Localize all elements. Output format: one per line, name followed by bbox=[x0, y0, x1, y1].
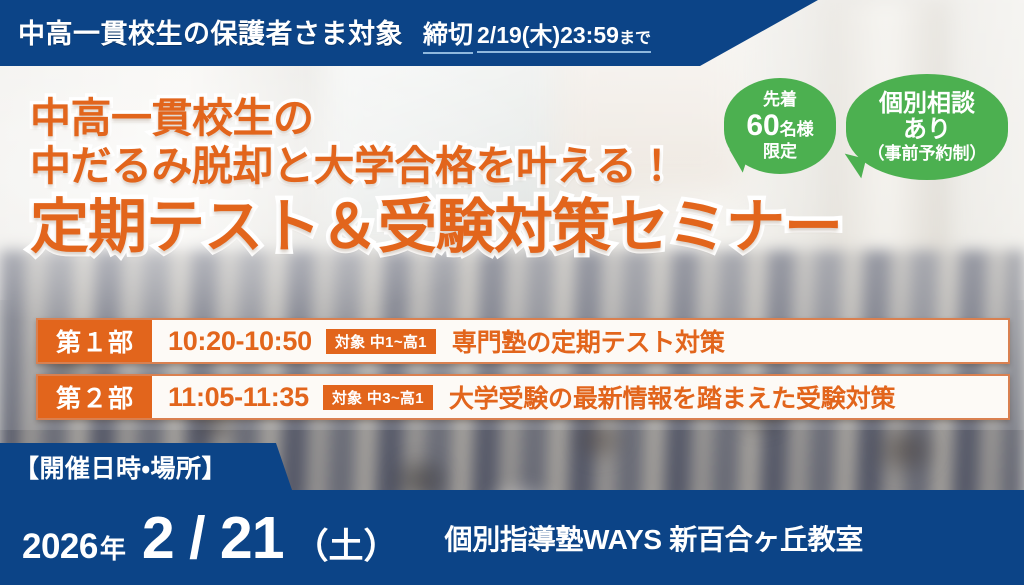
session-topic: 専門塾の定期テスト対策 bbox=[436, 320, 725, 362]
session-part-label: 第２部 bbox=[38, 376, 152, 418]
event-details-tab: 【開催日時・場所】 bbox=[0, 443, 292, 490]
headline-line-1: 中高一貫校生の bbox=[30, 96, 990, 142]
session-list: 第１部 10:20-10:50 対象 中1~高1 専門塾の定期テスト対策 第２部… bbox=[36, 318, 1010, 430]
session-time: 11:05-11:35 bbox=[152, 376, 323, 418]
seminar-title: 定期テスト＆受験対策セミナー bbox=[30, 195, 990, 260]
headline-block: 中高一貫校生の 中だるみ脱却と大学合格を叶える！ 定期テスト＆受験対策セミナー bbox=[30, 96, 990, 260]
session-part-label: 第１部 bbox=[38, 320, 152, 362]
headline-line-2: 中だるみ脱却と大学合格を叶える！ bbox=[30, 144, 990, 190]
event-year-unit: 年 bbox=[100, 529, 126, 566]
event-year: 2026 bbox=[22, 527, 98, 567]
deadline-label: 締切 bbox=[423, 15, 473, 54]
event-day-of-week: （土） bbox=[294, 518, 399, 569]
session-grade-badge: 対象 中3~高1 bbox=[323, 385, 433, 410]
session-row: 第２部 11:05-11:35 対象 中3~高1 大学受験の最新情報を踏まえた受… bbox=[36, 374, 1010, 420]
session-topic: 大学受験の最新情報を踏まえた受験対策 bbox=[433, 376, 895, 418]
event-month-day: 2 / 21 bbox=[142, 504, 284, 572]
top-ribbon-content: 中高一貫校生の保護者さま対象 締切 2/19(木)23:59 まで bbox=[0, 12, 651, 54]
top-ribbon: 中高一貫校生の保護者さま対象 締切 2/19(木)23:59 まで bbox=[0, 0, 818, 66]
deadline-suffix: まで bbox=[619, 24, 651, 53]
event-details-label: 【開催日時・場所】 bbox=[0, 449, 227, 485]
session-row: 第１部 10:20-10:50 対象 中1~高1 専門塾の定期テスト対策 bbox=[36, 318, 1010, 364]
footer-bar: 2026 年 2 / 21 （土） 個別指導塾WAYS 新百合ヶ丘教室 bbox=[0, 490, 1024, 585]
deadline-date: 2/19(木)23:59 bbox=[477, 16, 619, 53]
event-venue: 個別指導塾WAYS 新百合ヶ丘教室 bbox=[445, 518, 864, 558]
event-date: 2026 年 2 / 21 （土） bbox=[0, 504, 399, 572]
target-audience-text: 中高一貫校生の保護者さま対象 bbox=[18, 12, 403, 51]
seminar-banner: 中高一貫校生の保護者さま対象 締切 2/19(木)23:59 まで 先着 60名… bbox=[0, 0, 1024, 585]
session-grade-badge: 対象 中1~高1 bbox=[326, 329, 436, 354]
session-time: 10:20-10:50 bbox=[152, 320, 326, 362]
